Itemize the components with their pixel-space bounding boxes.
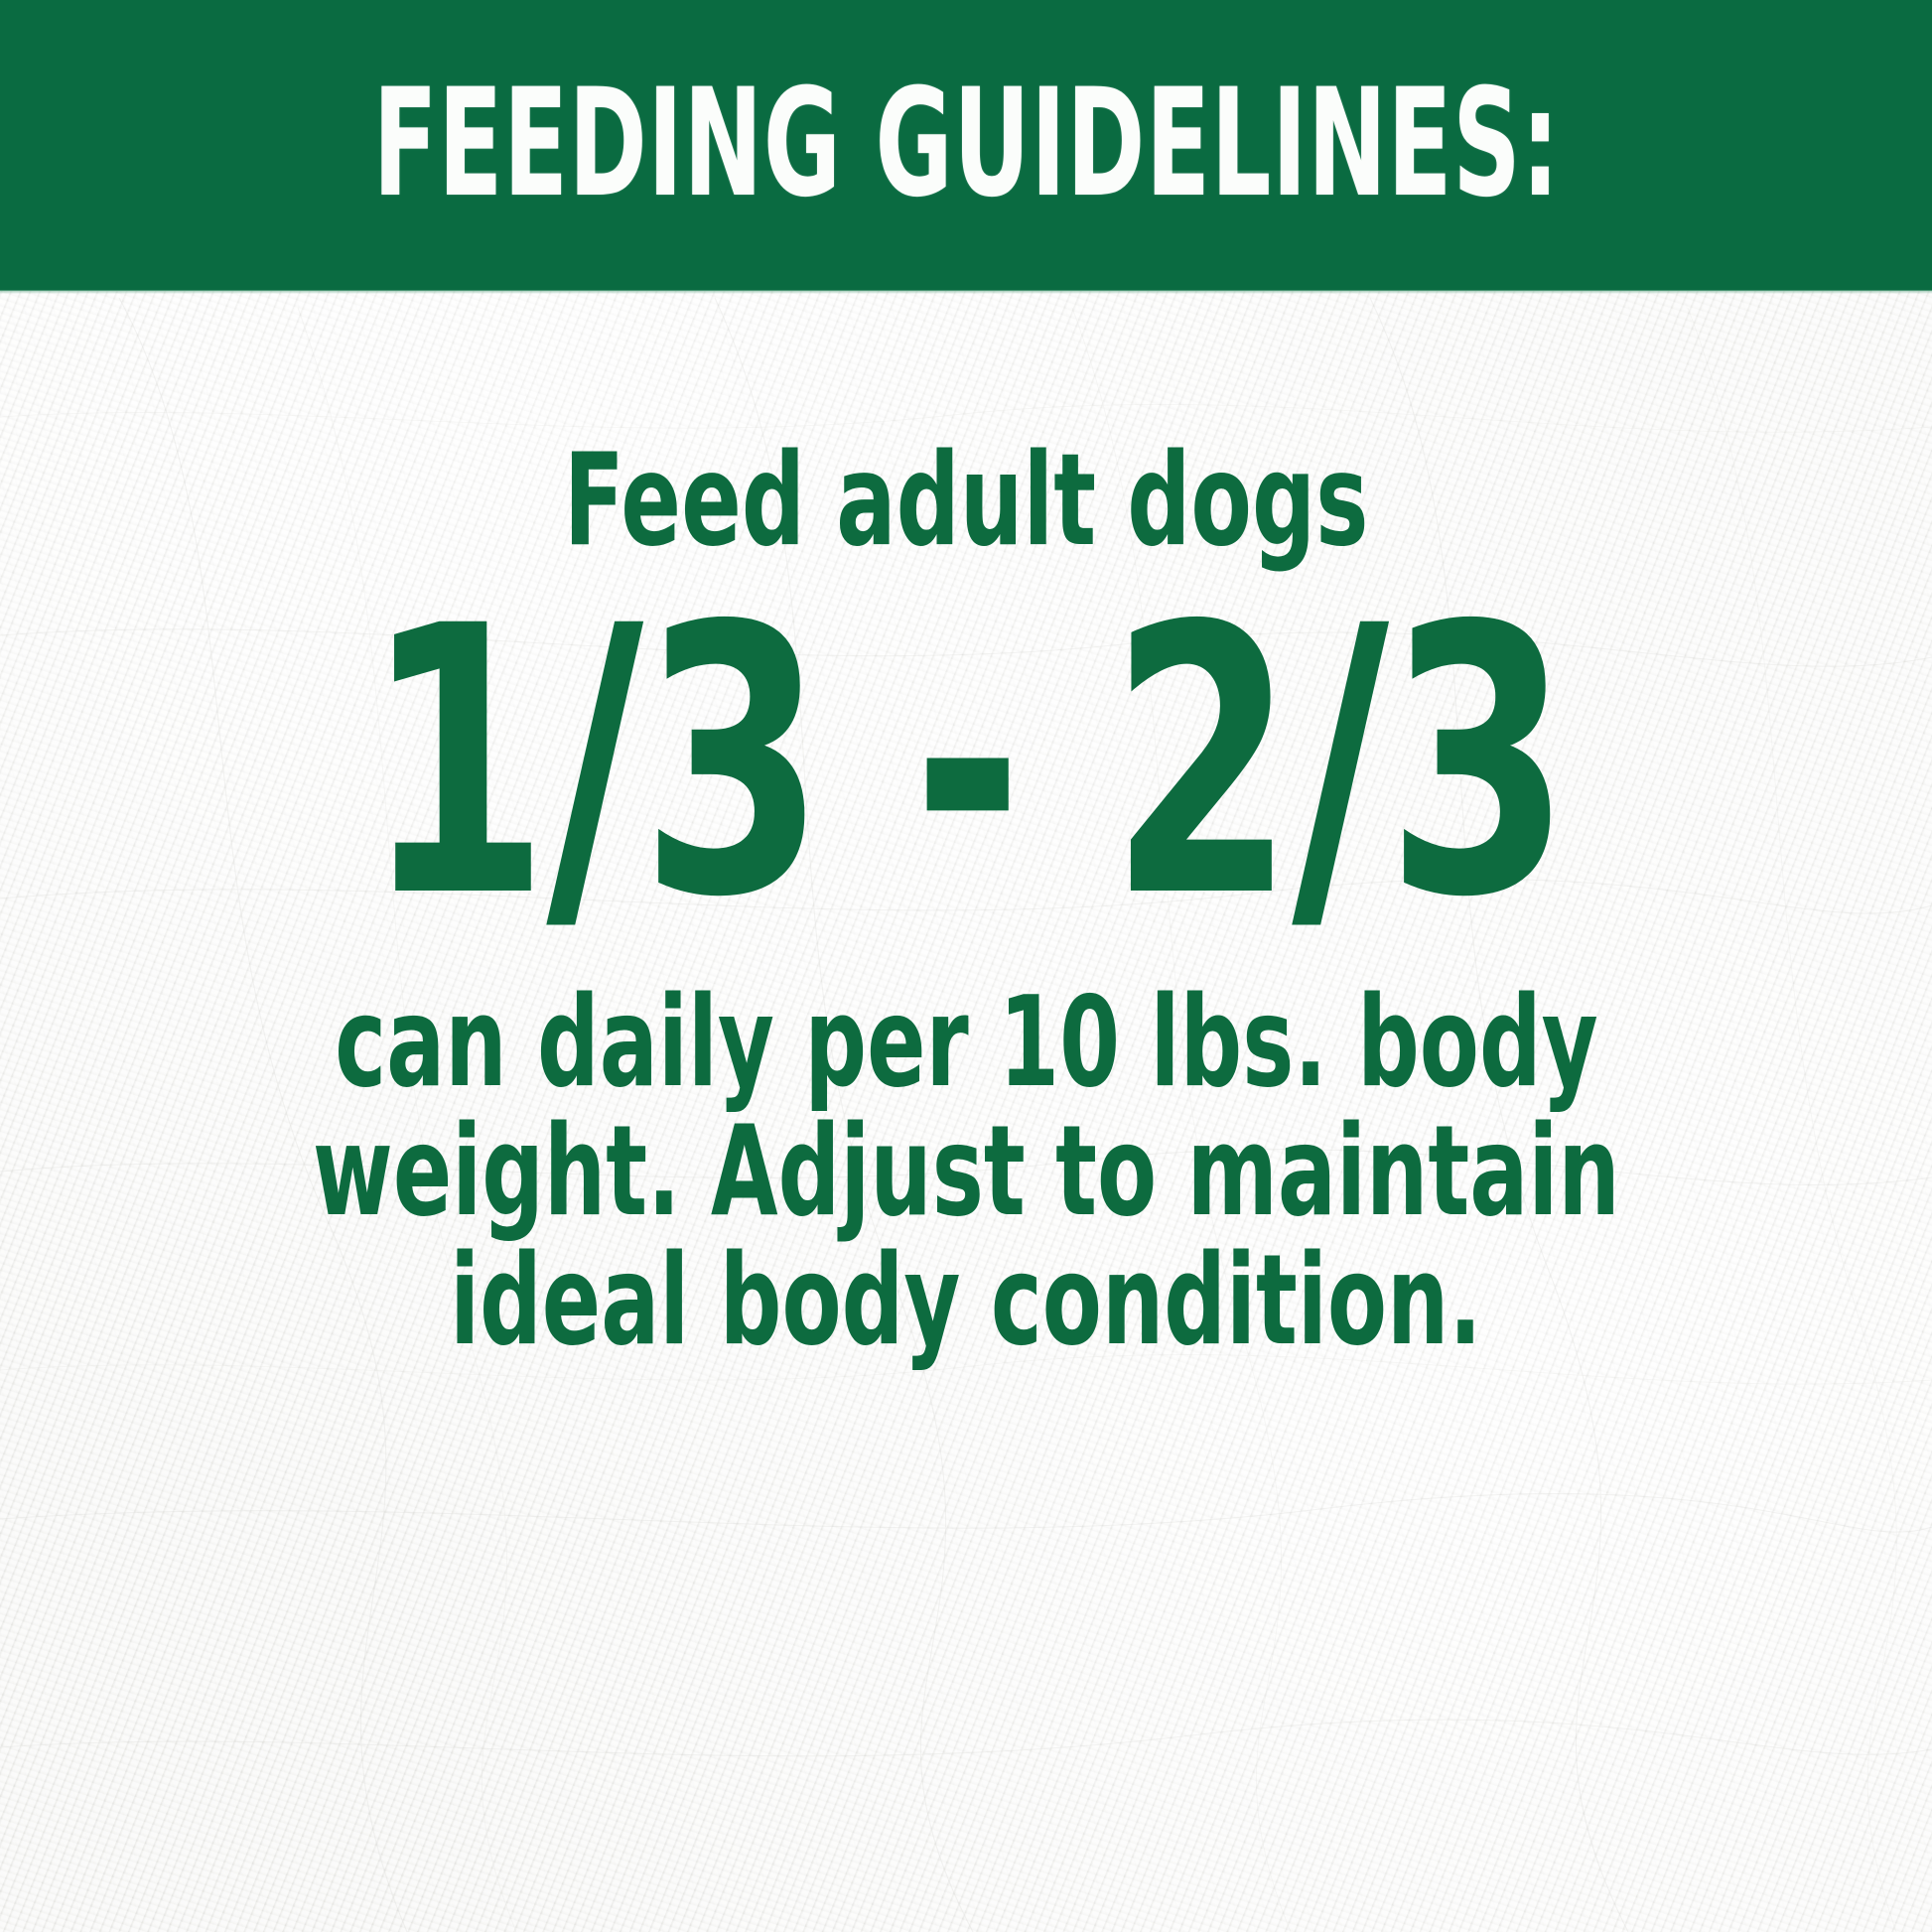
detail-line-2: weight. Adjust to maintain	[313, 1107, 1620, 1236]
feeding-guidelines-header: FEEDING GUIDELINES:	[0, 0, 1932, 291]
guidelines-body: Feed adult dogs 1/3 - 2/3 can daily per …	[0, 291, 1932, 1932]
feeding-guidelines-panel: FEEDING GUIDELINES: Feed adult dogs 1/3 …	[0, 0, 1932, 1932]
detail-line-3: ideal body condition.	[450, 1236, 1482, 1365]
page-title: FEEDING GUIDELINES:	[372, 69, 1560, 218]
lead-instruction-text: Feed adult dogs	[564, 438, 1369, 565]
detail-line-1: can daily per 10 lbs. body	[335, 978, 1598, 1107]
feeding-amount-value: 1/3 - 2/3	[364, 579, 1569, 948]
detail-paragraph: can daily per 10 lbs. body weight. Adjus…	[26, 978, 1907, 1365]
